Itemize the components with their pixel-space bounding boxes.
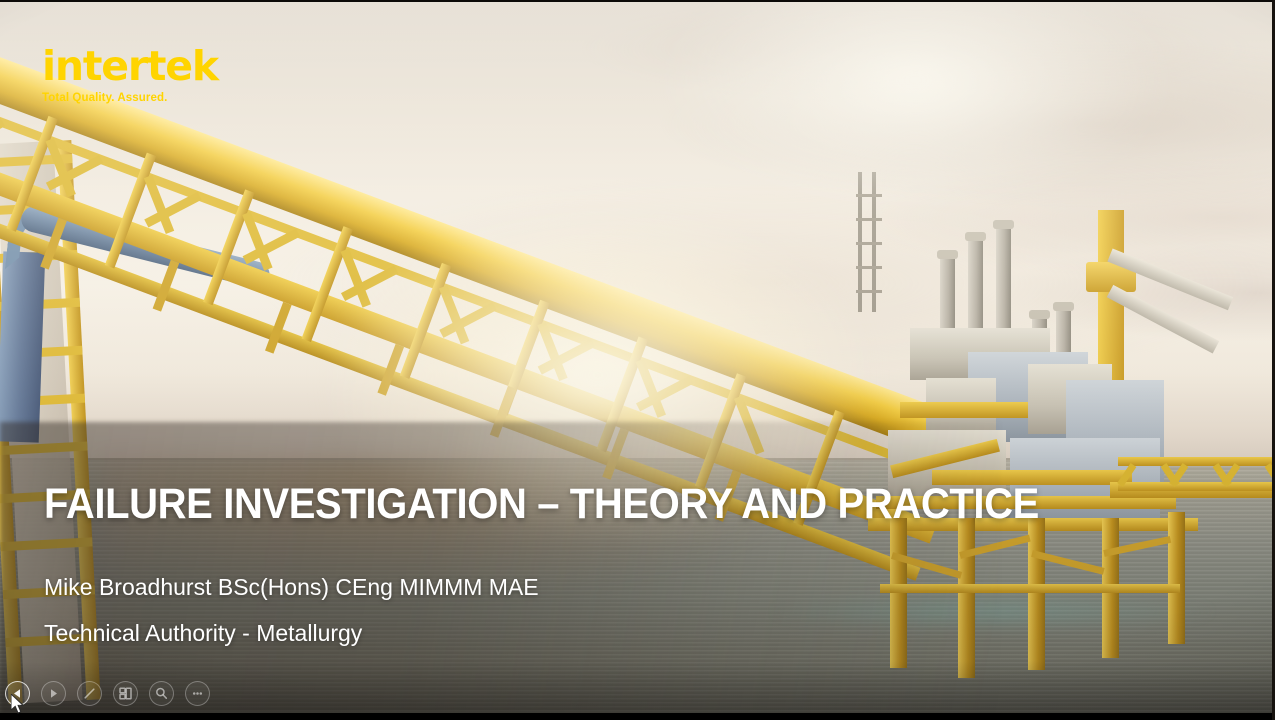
- zoom-tool-button[interactable]: [149, 681, 174, 706]
- pen-tool-button[interactable]: [77, 681, 102, 706]
- slide-text-block: FAILURE INVESTIGATION – THEORY AND PRACT…: [44, 480, 1114, 647]
- logo-tagline: Total Quality. Assured.: [42, 93, 218, 105]
- all-slides-button[interactable]: [113, 681, 138, 706]
- logo-wordmark: intertek: [42, 46, 218, 87]
- next-slide-button[interactable]: [41, 681, 66, 706]
- platform-leg: [1168, 512, 1185, 644]
- ellipsis-icon: [190, 686, 205, 701]
- magnifier-icon: [154, 686, 169, 701]
- slide-subtitle-role: Technical Authority - Metallurgy: [44, 620, 1114, 647]
- triangle-right-icon: [47, 687, 60, 700]
- triangle-left-icon: [11, 687, 24, 700]
- more-options-button[interactable]: [185, 681, 210, 706]
- slide-subtitle-presenter: Mike Broadhurst BSc(Hons) CEng MIMMM MAE: [44, 574, 1114, 601]
- presentation-viewer: intertek Total Quality. Assured. FAILURE…: [0, 0, 1275, 720]
- slide-canvas[interactable]: intertek Total Quality. Assured. FAILURE…: [0, 2, 1272, 713]
- bottom-black-bar: [0, 713, 1275, 720]
- right-truss-bridge: [1118, 457, 1272, 491]
- pen-icon: [82, 686, 97, 701]
- slideshow-toolbar: [0, 673, 1275, 713]
- grid-slides-icon: [118, 686, 133, 701]
- intertek-logo: intertek Total Quality. Assured.: [42, 46, 218, 105]
- top-border: [0, 0, 1275, 2]
- slide-title: FAILURE INVESTIGATION – THEORY AND PRACT…: [44, 480, 1039, 529]
- previous-slide-button[interactable]: [5, 681, 30, 706]
